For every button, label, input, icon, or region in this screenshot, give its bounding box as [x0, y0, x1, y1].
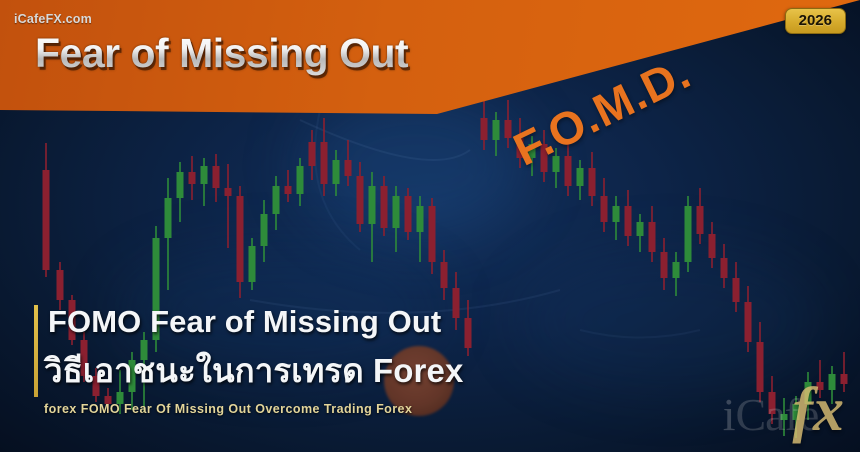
thumbnail-canvas: F.O.M.D. iCafeFX.com Fear of Missing Out…: [0, 0, 860, 452]
headline: FOMO Fear of Missing Out: [48, 304, 441, 340]
headline-thai: วิธีเอาชนะในการเทรด Forex: [44, 344, 463, 397]
subline: forex FOMO Fear Of Missing Out Overcome …: [44, 402, 412, 416]
year-badge: 2026: [785, 8, 846, 34]
banner-title: Fear of Missing Out: [35, 30, 408, 77]
site-tag: iCafeFX.com: [14, 12, 92, 26]
accent-bar: [34, 305, 38, 397]
